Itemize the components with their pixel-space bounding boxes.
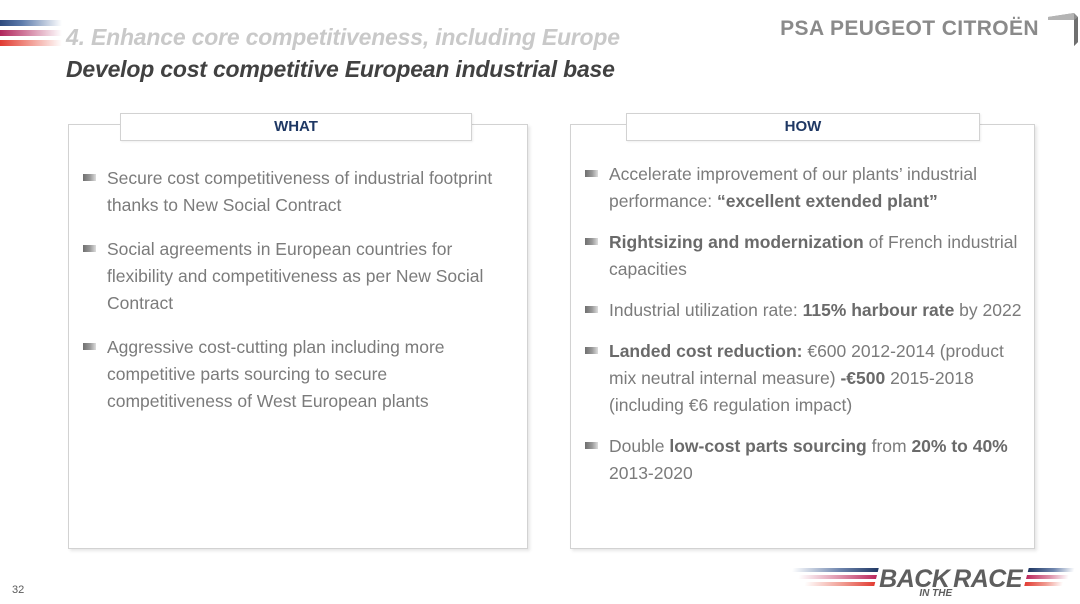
footer-logo-inthe: IN THE — [919, 588, 952, 599]
footer-stripe-red-icon — [1024, 582, 1063, 586]
what-bullet-list: Secure cost competitiveness of industria… — [69, 155, 527, 432]
list-item-text: Landed cost reduction: €600 2012-2014 (p… — [609, 338, 1024, 419]
stripe-blue-icon — [0, 20, 62, 26]
list-item: Accelerate improvement of our plants’ in… — [585, 161, 1024, 215]
footer-stripes-right-icon — [1023, 566, 1075, 592]
footer-stripe-blue-icon — [792, 568, 879, 572]
panel-what: WHAT Secure cost competitiveness of indu… — [68, 124, 528, 549]
psa-logo-mark-icon — [1044, 11, 1080, 47]
bullet-marker-icon — [83, 245, 96, 252]
footer-stripe-magenta-icon — [798, 575, 877, 579]
footer-stripe-magenta-icon — [1026, 575, 1069, 579]
footer-logo-wordmark: BACK IN THE RACE — [879, 565, 1022, 594]
bullet-marker-icon — [585, 306, 598, 313]
footer-logo-race: RACE — [953, 565, 1022, 594]
footer-stripe-blue-icon — [1028, 568, 1075, 572]
how-bullet-list: Accelerate improvement of our plants’ in… — [571, 155, 1034, 501]
stripe-magenta-icon — [0, 30, 62, 36]
list-item: Rightsizing and modernization of French … — [585, 229, 1024, 283]
page-title-eyebrow: 4. Enhance core competitiveness, includi… — [66, 22, 766, 52]
footer-stripe-red-icon — [804, 582, 875, 586]
stripe-red-icon — [0, 40, 62, 46]
bullet-marker-icon — [585, 238, 598, 245]
list-item-text: Aggressive cost-cutting plan including m… — [107, 334, 515, 415]
panel-how: HOW Accelerate improvement of our plants… — [570, 124, 1035, 549]
bullet-marker-icon — [585, 442, 598, 449]
bullet-marker-icon — [585, 170, 598, 177]
psa-peugeot-citroen-logo: PSA PEUGEOT CITROËN — [780, 12, 1080, 46]
page-title: 4. Enhance core competitiveness, includi… — [66, 22, 766, 84]
list-item: Social agreements in European countries … — [83, 236, 515, 317]
panel-how-label: HOW — [626, 113, 980, 141]
bullet-marker-icon — [585, 347, 598, 354]
psa-logo-text: PSA PEUGEOT CITROËN — [780, 17, 1039, 41]
footer-stripes-left-icon — [787, 566, 879, 592]
page-title-main: Develop cost competitive European indust… — [66, 54, 766, 84]
list-item: Aggressive cost-cutting plan including m… — [83, 334, 515, 415]
slide-header: 4. Enhance core competitiveness, includi… — [0, 0, 1080, 96]
list-item: Industrial utilization rate: 115% harbou… — [585, 297, 1024, 324]
list-item: Double low-cost parts sourcing from 20% … — [585, 433, 1024, 487]
list-item-text: Accelerate improvement of our plants’ in… — [609, 161, 1024, 215]
list-item: Secure cost competitiveness of industria… — [83, 165, 515, 219]
list-item-text: Industrial utilization rate: 115% harbou… — [609, 297, 1024, 324]
bullet-marker-icon — [83, 343, 96, 350]
list-item-text: Secure cost competitiveness of industria… — [107, 165, 515, 219]
bullet-marker-icon — [83, 174, 96, 181]
panel-what-label: WHAT — [120, 113, 472, 141]
list-item-text: Social agreements in European countries … — [107, 236, 515, 317]
list-item-text: Rightsizing and modernization of French … — [609, 229, 1024, 283]
back-in-the-race-logo: BACK IN THE RACE — [790, 562, 1072, 596]
list-item-text: Double low-cost parts sourcing from 20% … — [609, 433, 1024, 487]
page-number: 32 — [12, 584, 24, 596]
list-item: Landed cost reduction: €600 2012-2014 (p… — [585, 338, 1024, 419]
header-stripe-decoration — [0, 20, 62, 50]
